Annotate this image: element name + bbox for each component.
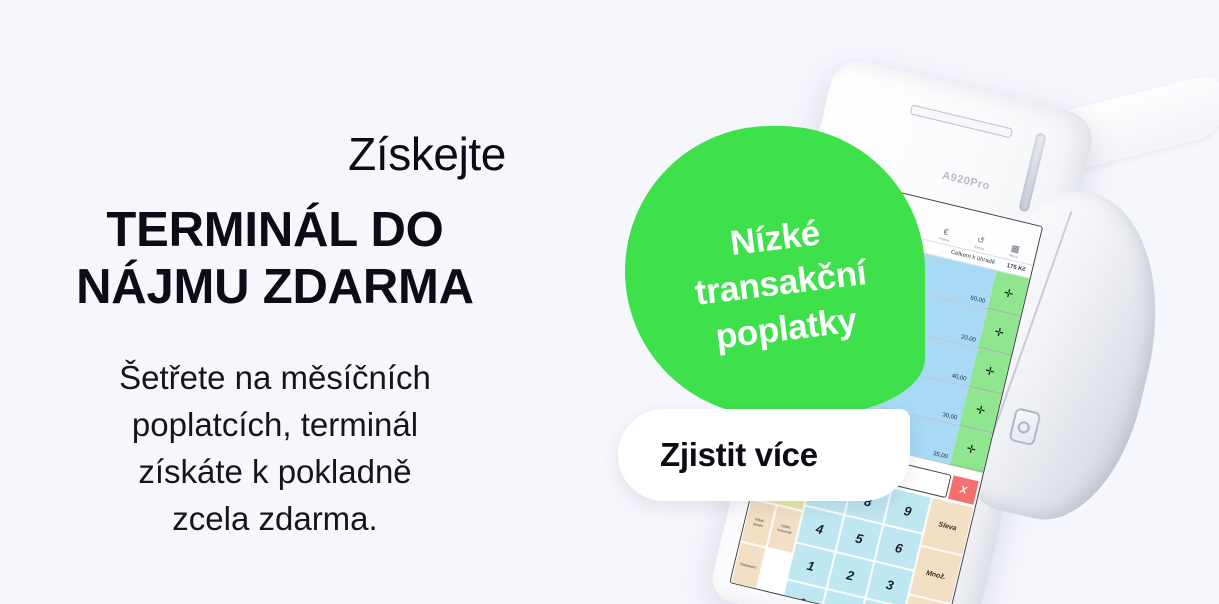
copy-block: Získejte TERMINÁL DO NÁJMU ZDARMA Šetřet… — [40, 130, 510, 543]
learn-more-label: Zjistit více — [618, 436, 818, 474]
total-amount: 175 Kč — [1006, 263, 1026, 273]
toolbar-label: Platba — [939, 237, 950, 243]
promo-banner: Získejte TERMINÁL DO NÁJMU ZDARMA Šetřet… — [0, 0, 1219, 604]
eyebrow-text: Získejte — [40, 130, 510, 180]
item-price: 30,00 — [942, 412, 958, 421]
learn-more-button[interactable]: Zjistit více — [618, 409, 910, 501]
toolbar-label: Menu — [1009, 253, 1019, 259]
item-price: 20,00 — [960, 334, 976, 343]
clear-button[interactable]: X — [948, 475, 979, 504]
promo-badge: Nízké transakční poplatky — [625, 126, 925, 416]
grid-icon: ▩ — [1010, 243, 1021, 255]
promo-badge-label: Nízké transakční poplatky — [608, 109, 941, 433]
item-price: 50,00 — [970, 295, 986, 304]
undo-icon: ↺ — [976, 234, 986, 245]
card-icon: € — [942, 226, 949, 237]
item-price: 40,00 — [951, 373, 967, 382]
item-price: 35,00 — [932, 451, 948, 460]
page-title: TERMINÁL DO NÁJMU ZDARMA — [40, 202, 510, 316]
subcopy-text: Šetřete na měsíčních poplatcích, terminá… — [40, 355, 510, 542]
